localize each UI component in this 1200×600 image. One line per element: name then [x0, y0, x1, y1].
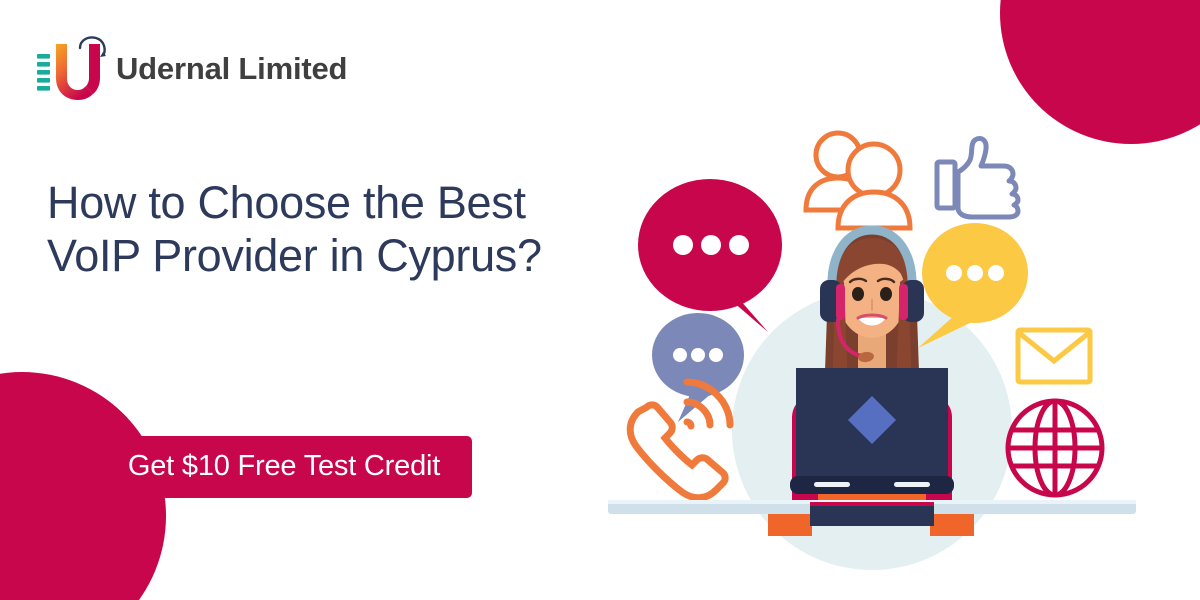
udernal-u-headset-logo	[36, 34, 110, 104]
users-icon	[806, 133, 910, 228]
envelope-icon	[1018, 330, 1090, 382]
brand-wordmark: Udernal Limited	[116, 51, 347, 87]
speech-bubble-icon	[638, 179, 782, 332]
call-center-illustration	[600, 100, 1140, 570]
laptop-icon	[790, 368, 954, 526]
marketing-banner: Udernal Limited How to Choose the Best V…	[0, 0, 1200, 600]
thumbs-up-icon	[937, 138, 1018, 217]
globe-icon	[1008, 401, 1102, 495]
phone-call-icon	[630, 382, 730, 498]
get-free-credit-button[interactable]: Get $10 Free Test Credit	[96, 436, 472, 498]
brand-logo[interactable]: Udernal Limited	[36, 34, 347, 104]
page-title: How to Choose the Best VoIP Provider in …	[47, 176, 567, 282]
